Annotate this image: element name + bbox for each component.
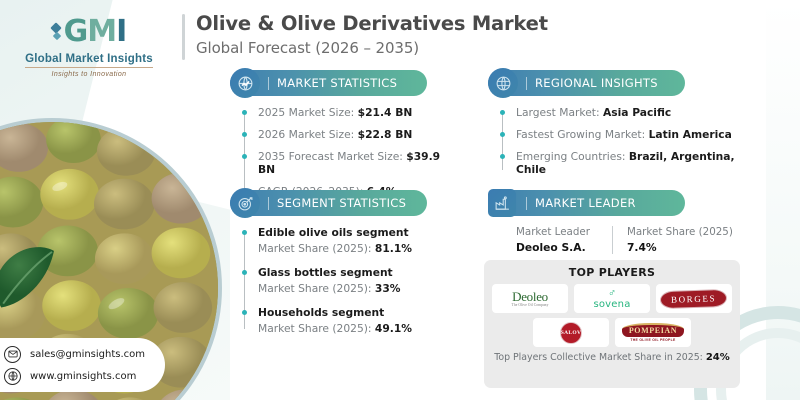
market-share-key: Market Share (2025) — [627, 226, 733, 238]
section-market-leader: MARKET LEADER Market Leader Deoleo S.A. … — [488, 190, 758, 254]
bullet-dot — [500, 154, 505, 159]
sovena-mark-icon: ♂ — [593, 288, 630, 299]
stat-key: 2026 Market Size: — [258, 128, 358, 141]
collective-share-label: Top Players Collective Market Share in 2… — [494, 352, 706, 363]
top-players-panel: TOP PLAYERS Deoleo The Olive Oil Company… — [484, 260, 740, 388]
market-leader-badge: MARKET LEADER — [488, 190, 685, 216]
stat-key: 2035 Forecast Market Size: — [258, 150, 406, 163]
market-leader-details: Market Leader Deoleo S.A. Market Share (… — [516, 226, 758, 254]
market-leader-share-col: Market Share (2025) 7.4% — [612, 226, 749, 254]
bullet-dot — [242, 310, 247, 315]
bullet-dot — [242, 230, 247, 235]
market-statistics-badge: MARKET STATISTICS — [230, 70, 427, 96]
segment-statistics-label: SEGMENT STATISTICS — [268, 197, 406, 210]
segment-title: Edible olive oils segment — [258, 226, 456, 239]
list-item: Fastest Growing Market: Latin America — [502, 128, 758, 141]
list-item: Glass bottles segment Market Share (2025… — [244, 266, 456, 295]
list-item: Emerging Countries: Brazil, Argentina, C… — [502, 150, 758, 176]
title-divider — [182, 14, 185, 60]
globe-chart-icon — [230, 68, 260, 98]
market-statistics-list: 2025 Market Size: $21.4 BN 2026 Market S… — [244, 106, 456, 198]
globe-icon — [488, 68, 518, 98]
bullet-dot — [242, 154, 247, 159]
segment-value: 49.1% — [375, 322, 412, 335]
contact-website-row[interactable]: www.gminsights.com — [4, 368, 165, 385]
region-key: Emerging Countries: — [516, 150, 629, 163]
envelope-icon — [4, 346, 21, 363]
segment-statistics-list: Edible olive oils segment Market Share (… — [244, 226, 456, 335]
sovena-wordmark: sovena — [593, 300, 630, 310]
stat-key: 2025 Market Size: — [258, 106, 358, 119]
segment-statistics-badge: SEGMENT STATISTICS — [230, 190, 427, 216]
bullet-dot — [242, 132, 247, 137]
list-item: Largest Market: Asia Pacific — [502, 106, 758, 119]
gmi-logo: GMI Global Market Insights Insights to I… — [14, 14, 164, 78]
segment-key: Market Share (2025): — [258, 242, 375, 255]
region-value: Latin America — [649, 128, 732, 141]
market-leader-label: MARKET LEADER — [526, 197, 636, 210]
deoleo-tagline: The Olive Oil Company — [512, 304, 549, 308]
contact-email-row[interactable]: sales@gminsights.com — [4, 346, 165, 363]
player-logo-sovena[interactable]: ♂ sovena — [574, 284, 650, 313]
collective-share-value: 24% — [706, 352, 730, 363]
segment-title: Households segment — [258, 306, 456, 319]
list-item: Edible olive oils segment Market Share (… — [244, 226, 456, 255]
bullet-dot — [242, 110, 247, 115]
market-leader-name-col: Market Leader Deoleo S.A. — [516, 226, 606, 254]
salov-wordmark: SALOV — [560, 322, 582, 344]
gmi-diamond-logo-icon — [52, 24, 60, 39]
bullet-dot — [242, 270, 247, 275]
page-title: Olive & Olive Derivatives Market — [196, 12, 548, 35]
regional-insights-list: Largest Market: Asia Pacific Fastest Gro… — [502, 106, 758, 176]
segment-value: 81.1% — [375, 242, 412, 255]
pompeian-wordmark: POMPEIAN — [622, 323, 684, 337]
page-title-block: Olive & Olive Derivatives Market Global … — [182, 12, 548, 60]
page-subtitle: Global Forecast (2026 – 2035) — [196, 39, 548, 57]
regional-insights-badge: REGIONAL INSIGHTS — [488, 70, 685, 96]
segment-value: 33% — [375, 282, 401, 295]
list-item: 2026 Market Size: $22.8 BN — [244, 128, 456, 141]
top-players-title: TOP PLAYERS — [492, 266, 732, 279]
contact-website: www.gminsights.com — [30, 371, 136, 382]
gmi-tagline: Insights to Innovation — [14, 71, 164, 78]
market-statistics-label: MARKET STATISTICS — [268, 77, 397, 90]
gmi-company-name: Global Market Insights — [25, 53, 153, 68]
player-logo-pompeian[interactable]: POMPEIAN THE OLIVE OIL PEOPLE — [615, 318, 691, 347]
region-value: Asia Pacific — [603, 106, 671, 119]
target-chart-icon — [230, 188, 260, 218]
stat-value: $21.4 BN — [358, 106, 413, 119]
bullet-dot — [500, 132, 505, 137]
section-market-statistics: MARKET STATISTICS 2025 Market Size: $21.… — [230, 70, 456, 198]
factory-icon — [488, 189, 516, 217]
player-logo-deoleo[interactable]: Deoleo The Olive Oil Company — [492, 284, 568, 313]
region-key: Fastest Growing Market: — [516, 128, 649, 141]
globe-icon — [4, 368, 21, 385]
market-share-value: 7.4% — [627, 241, 733, 254]
bullet-dot — [500, 110, 505, 115]
borges-wordmark: BORGES — [660, 288, 728, 308]
list-item: 2025 Market Size: $21.4 BN — [244, 106, 456, 119]
player-logo-borges[interactable]: BORGES — [656, 284, 732, 313]
segment-key: Market Share (2025): — [258, 322, 375, 335]
section-segment-statistics: SEGMENT STATISTICS Edible olive oils seg… — [230, 190, 456, 335]
market-leader-value: Deoleo S.A. — [516, 241, 590, 254]
regional-insights-label: REGIONAL INSIGHTS — [526, 77, 658, 90]
section-regional-insights: REGIONAL INSIGHTS Largest Market: Asia P… — [488, 70, 758, 176]
region-key: Largest Market: — [516, 106, 603, 119]
list-item: 2035 Forecast Market Size: $39.9 BN — [244, 150, 456, 176]
deoleo-wordmark: Deoleo — [512, 290, 549, 303]
pompeian-tagline: THE OLIVE OIL PEOPLE — [622, 339, 684, 342]
segment-key: Market Share (2025): — [258, 282, 375, 295]
segment-title: Glass bottles segment — [258, 266, 456, 279]
top-players-row-1: Deoleo The Olive Oil Company ♂ sovena BO… — [492, 284, 732, 313]
market-leader-key: Market Leader — [516, 226, 590, 238]
contact-email: sales@gminsights.com — [30, 349, 145, 360]
top-players-row-2: SALOV POMPEIAN THE OLIVE OIL PEOPLE — [492, 318, 732, 347]
infographic-canvas: GMI Global Market Insights Insights to I… — [0, 0, 800, 400]
gmi-logo-mark: GMI — [14, 14, 164, 49]
stat-value: $22.8 BN — [358, 128, 413, 141]
player-logo-salov[interactable]: SALOV — [533, 318, 609, 347]
contact-panel: sales@gminsights.com www.gminsights.com — [0, 338, 165, 392]
top-players-footer: Top Players Collective Market Share in 2… — [492, 352, 732, 363]
list-item: Households segment Market Share (2025): … — [244, 306, 456, 335]
gmi-wordmark: GMI — [64, 14, 127, 49]
